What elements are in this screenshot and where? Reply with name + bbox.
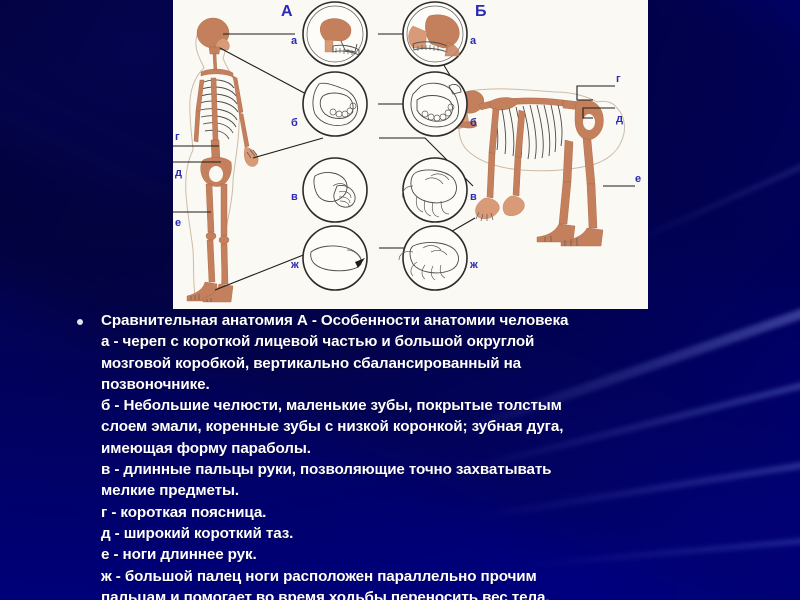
comparative-anatomy-figure: .bone{fill:#c4805c;stroke:#a8613f;stroke… <box>173 0 648 309</box>
side-label-left-d: д <box>175 167 182 179</box>
bullet-marker <box>77 319 83 325</box>
column-header-A: А <box>281 3 293 20</box>
circle-label-b-left: б <box>291 117 298 129</box>
column-header-B: Б <box>475 3 487 20</box>
side-label-left-g: г <box>175 131 180 143</box>
slide-body-text: Сравнительная анатомия А - Особенности а… <box>63 310 763 600</box>
side-label-right-g: г <box>616 73 621 85</box>
side-label-right-e: е <box>635 173 641 185</box>
circle-label-v-right: в <box>470 191 477 203</box>
bullet-block: Сравнительная анатомия А - Особенности а… <box>63 310 763 600</box>
circle-label-a-right: а <box>470 35 477 47</box>
side-label-right-d: д <box>616 113 623 125</box>
circle-label-v-left: в <box>291 191 298 203</box>
circle-label-a-left: а <box>291 35 298 47</box>
circle-label-b-right: б <box>470 117 477 129</box>
circle-label-zh-left: ж <box>290 259 299 271</box>
presentation-slide: .bone{fill:#c4805c;stroke:#a8613f;stroke… <box>0 0 800 600</box>
circle-label-zh-right: ж <box>469 259 478 271</box>
side-label-left-e: е <box>175 217 181 229</box>
